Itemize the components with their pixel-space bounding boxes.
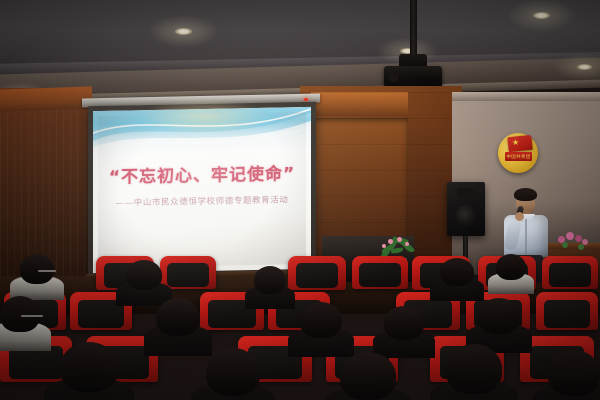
audience-member-head <box>440 258 474 286</box>
audience-member-head <box>496 254 526 280</box>
flower-bloom <box>566 232 574 240</box>
auditorium-photo: ★ 中国共青团 “不忘初心、牢记使命” ——中山市民众德恒学校师德专题教育活动 <box>0 0 600 400</box>
pa-speaker-tweeter <box>457 188 475 197</box>
seat-cushion <box>544 300 590 327</box>
presenter-hand <box>515 212 524 221</box>
audience-member-head <box>478 298 520 334</box>
seat-cushion <box>9 346 62 379</box>
flower-bloom <box>575 235 582 242</box>
ceiling-downlight <box>533 12 550 19</box>
flower-bloom <box>562 242 568 248</box>
audience-seating-area <box>0 252 600 400</box>
seat-cushion <box>549 263 590 287</box>
plant-flower <box>382 244 386 248</box>
slide-title: “不忘初心、牢记使命” <box>93 159 311 188</box>
plant-flower <box>388 239 393 244</box>
eyeglasses-icon <box>21 315 43 317</box>
audience-member-head <box>300 302 342 338</box>
slide-subtitle: ——中山市民众德恒学校师德专题教育活动 <box>93 193 311 209</box>
slide-wave-svg <box>93 107 311 159</box>
projector-mount-pole <box>410 0 417 58</box>
eyeglasses-icon <box>38 270 57 272</box>
ceiling-downlight <box>577 64 592 70</box>
audience-member-head <box>340 352 396 400</box>
audience-member-head <box>384 306 424 340</box>
projector-lens <box>388 72 399 82</box>
left-wall-highlight <box>0 86 92 111</box>
audience-member-head <box>156 298 200 336</box>
screen-status-led <box>304 98 308 101</box>
plant-flower <box>397 237 402 242</box>
emblem-star-icon: ★ <box>512 139 520 148</box>
right-wall-trim <box>452 92 600 101</box>
slide-wave-graphic <box>93 107 311 159</box>
pa-speaker-woofer <box>455 205 477 227</box>
presenter-hair <box>514 188 537 201</box>
audience-member-head <box>548 350 600 396</box>
communist-youth-league-emblem: ★ 中国共青团 <box>496 130 540 174</box>
audience-member-head <box>446 344 502 394</box>
audience-member-head <box>60 342 118 392</box>
audience-member-head <box>254 266 286 294</box>
flower-bloom <box>578 244 584 250</box>
presenter-shirt-placket <box>525 217 527 255</box>
ceiling-downlight <box>175 28 192 35</box>
podium-flower-arrangement <box>556 230 590 252</box>
seat-cushion <box>296 263 339 287</box>
audience-member-head <box>206 348 260 396</box>
seat-cushion <box>359 263 400 287</box>
audience-member-head <box>126 260 162 290</box>
plant-flower <box>405 242 409 246</box>
emblem-banner-label: 中国共青团 <box>506 152 531 161</box>
projection-screen-surface: “不忘初心、牢记使命” ——中山市民众德恒学校师德专题教育活动 <box>93 107 311 273</box>
seat-cushion <box>167 263 208 287</box>
